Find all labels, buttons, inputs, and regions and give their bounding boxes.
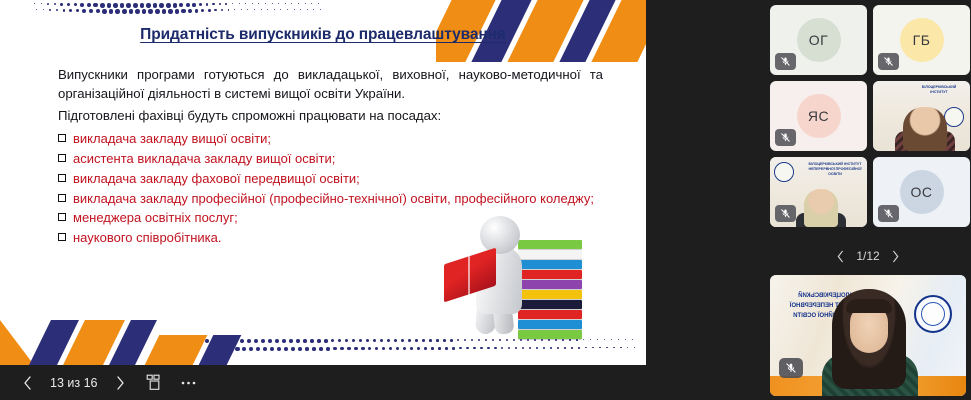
- slide-title: Придатність випускників до працевлаштува…: [0, 26, 646, 44]
- rail-next-page-button[interactable]: [888, 246, 904, 266]
- decorative-dots-top: [34, 2, 334, 16]
- list-item: викладача закладу професійної (професійн…: [58, 190, 603, 207]
- more-options-button[interactable]: [171, 368, 205, 398]
- checkbox-square-icon: [58, 213, 66, 221]
- rail-prev-page-button[interactable]: [832, 246, 848, 266]
- checkbox-square-icon: [58, 134, 66, 142]
- next-slide-button[interactable]: [103, 368, 137, 398]
- layout-button[interactable]: [137, 368, 171, 398]
- institute-logo-icon: [914, 295, 952, 333]
- list-item: викладача закладу вищої освіти;: [58, 130, 603, 147]
- microphone-muted-icon: [878, 205, 899, 222]
- participant-tile-gb[interactable]: ГБ: [873, 5, 970, 75]
- rail-page-indicator: 1/12: [856, 249, 879, 263]
- previous-slide-button[interactable]: [10, 368, 44, 398]
- avatar: ЯС: [797, 94, 841, 138]
- presentation-toolbar: 13 из 16: [0, 365, 758, 400]
- banner-text: БІЛОЦЕРКІВСЬКИЙ ІНСТИТУТ НЕПЕРЕРВНОЇ ПРО…: [805, 162, 865, 177]
- participant-tile-woman-video[interactable]: БІЛОЦЕРКІВСЬКИЙ ІНСТИТУТ НЕПЕРЕРВНОЇ ПРО…: [770, 157, 867, 227]
- list-item: викладача закладу фахової передвищої осв…: [58, 170, 603, 187]
- banner-text: БІЛОЦЕРКІВСЬКИЙІНСТИТУТ: [911, 85, 967, 95]
- slide-page-indicator: 13 из 16: [44, 376, 103, 390]
- avatar: ГБ: [900, 18, 944, 62]
- list-item: асистента викладача закладу вищої освіти…: [58, 150, 603, 167]
- participant-tile-os[interactable]: ОС: [873, 157, 970, 227]
- microphone-muted-icon: [779, 358, 803, 378]
- presentation-stage: Придатність випускників до працевлаштува…: [0, 0, 758, 365]
- video-feed: БІЛОЦЕРКІВСЬКИЙІНСТИТУТ: [873, 81, 970, 151]
- self-view-video-tile[interactable]: БІЛОЦЕРКІВСЬКИЙ ІНСТИТУТ НЕПЕРЕРВНОЇ ПРО…: [770, 275, 966, 396]
- chevron-left-icon: [21, 375, 34, 391]
- checkbox-square-icon: [58, 174, 66, 182]
- chevron-left-icon: [836, 250, 845, 263]
- participant-tile-og[interactable]: ОГ: [770, 5, 867, 75]
- institute-logo-icon: [944, 107, 964, 127]
- microphone-muted-icon: [775, 53, 796, 70]
- chevron-right-icon: [114, 375, 127, 391]
- slide-paragraph: Підготовлені фахівці будуть спроможні пр…: [58, 107, 603, 126]
- figure-head: [480, 216, 520, 254]
- list-item-label: викладача закладу фахової передвищої осв…: [73, 170, 603, 187]
- chevron-right-icon: [891, 250, 900, 263]
- decorative-dots-bottom: [205, 337, 646, 363]
- figure-reading-books-illustration: [432, 214, 592, 334]
- participant-rail: ОГ ГБ ЯС: [765, 0, 971, 400]
- avatar: ОГ: [797, 18, 841, 62]
- microphone-muted-icon: [775, 205, 796, 222]
- slide-canvas[interactable]: Придатність випускників до працевлаштува…: [0, 0, 646, 365]
- checkbox-square-icon: [58, 154, 66, 162]
- participant-tile-man-video[interactable]: БІЛОЦЕРКІВСЬКИЙІНСТИТУТ: [873, 81, 970, 151]
- ellipsis-icon: [180, 380, 197, 386]
- microphone-muted-icon: [775, 129, 796, 146]
- checkbox-square-icon: [58, 194, 66, 202]
- decorative-triangle: [0, 320, 34, 365]
- participant-grid: ОГ ГБ ЯС: [765, 5, 971, 227]
- book-stack-icon: [518, 240, 582, 334]
- slide-paragraph: Випускники програми готуються до виклада…: [58, 66, 603, 103]
- checkbox-square-icon: [58, 233, 66, 241]
- list-item-label: асистента викладача закладу вищої освіти…: [73, 150, 603, 167]
- list-item-label: викладача закладу вищої освіти;: [73, 130, 603, 147]
- rail-pagination: 1/12: [765, 243, 971, 269]
- microphone-muted-icon: [878, 53, 899, 70]
- list-item-label: викладача закладу професійної (професійн…: [73, 190, 603, 207]
- participant-tile-yas[interactable]: ЯС: [770, 81, 867, 151]
- layout-grid-icon: [146, 374, 163, 391]
- avatar: ОС: [900, 170, 944, 214]
- meeting-window: Придатність випускників до працевлаштува…: [0, 0, 971, 400]
- institute-logo-icon: [774, 162, 794, 182]
